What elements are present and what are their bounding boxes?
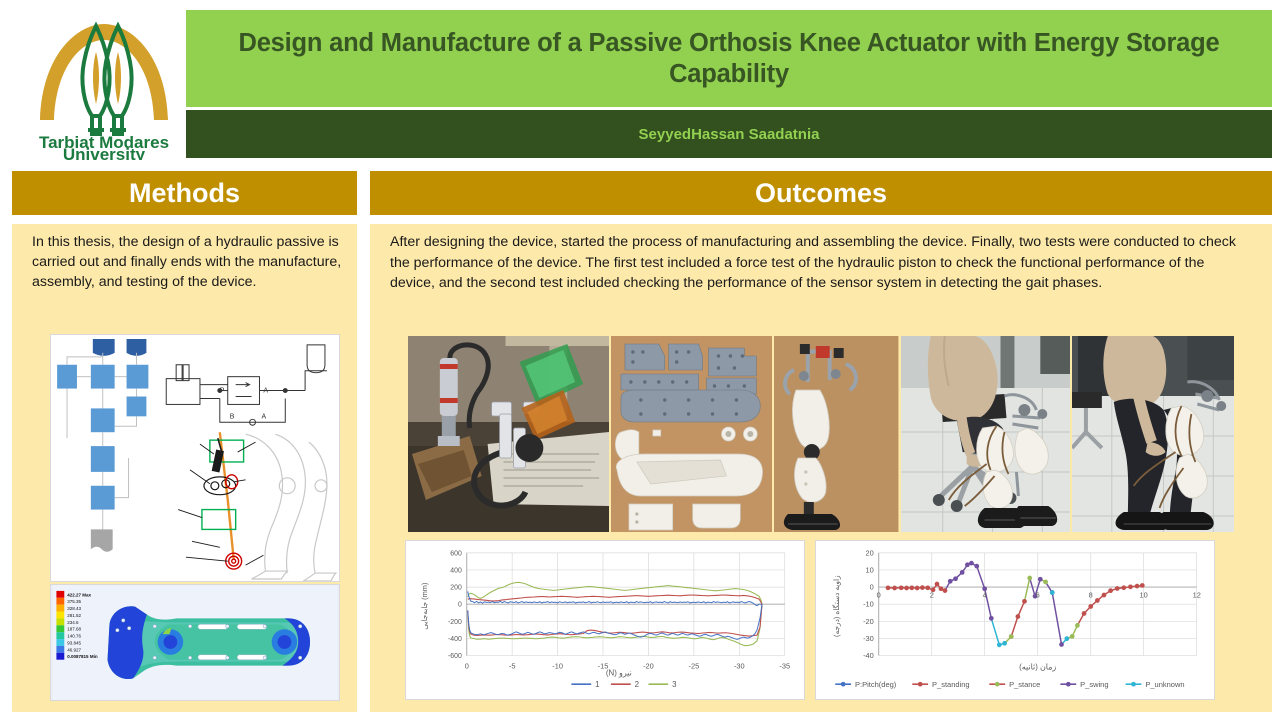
svg-text:A: A <box>263 388 268 395</box>
photo-assembled-orthosis-on-bench <box>774 336 898 532</box>
methods-panel: In this thesis, the design of a hydrauli… <box>12 224 357 712</box>
svg-text:10: 10 <box>1140 590 1148 599</box>
logo-graphic: Tarbiat Modares University <box>22 8 187 160</box>
gait-phase-pitch-chart: 20 10 0 -10 -20 -30 -40 0 2 4 6 8 10 12 <box>815 540 1215 700</box>
svg-text:6: 6 <box>1036 590 1040 599</box>
fea-legend-1: 375.35 <box>67 599 81 604</box>
svg-text:0: 0 <box>465 661 469 670</box>
fea-legend-5: 187.68 <box>67 627 81 632</box>
svg-text:P: P <box>220 388 225 395</box>
outcomes-section-header: Outcomes <box>370 171 1272 215</box>
fea-legend-2: 328.43 <box>67 606 81 611</box>
svg-text:10: 10 <box>866 565 874 574</box>
svg-text:A: A <box>261 413 266 420</box>
force-displacement-chart: 600 400 200 0 -200 -400 -600 0 -5 -10 -1… <box>405 540 805 700</box>
svg-text:-30: -30 <box>863 634 874 643</box>
author-name: SeyyedHassan Saadatnia <box>639 126 820 143</box>
svg-text:0: 0 <box>870 583 874 592</box>
chart-right-legend-3: P_swing <box>1080 680 1108 689</box>
methods-diagram-graphic: P A B A <box>51 335 339 581</box>
svg-text:0: 0 <box>877 590 881 599</box>
outcomes-heading-label: Outcomes <box>755 178 887 209</box>
chart-left-legend-3: 3 <box>672 680 677 689</box>
photo-subject-standing-wearing-orthosis <box>1072 336 1234 532</box>
methods-diagram-figure: P A B A <box>50 334 340 582</box>
svg-text:600: 600 <box>450 550 462 557</box>
poster-title-bar: Design and Manufacture of a Passive Orth… <box>186 10 1272 107</box>
methods-section-header: Methods <box>12 171 357 215</box>
svg-text:-35: -35 <box>779 661 790 670</box>
fea-legend-4: 234.6 <box>67 620 79 625</box>
poster-author-bar: SeyyedHassan Saadatnia <box>186 110 1272 158</box>
chart-left-ylabel: جابه‌جایی (mm) <box>420 583 429 630</box>
svg-text:12: 12 <box>1193 590 1201 599</box>
page-title: Design and Manufacture of a Passive Orth… <box>224 28 1234 88</box>
svg-text:-30: -30 <box>734 661 745 670</box>
fea-legend-3: 281.52 <box>67 613 81 618</box>
svg-text:-5: -5 <box>509 661 516 670</box>
outcomes-photo-strip <box>408 336 1234 532</box>
svg-text:-20: -20 <box>863 617 874 626</box>
chart-right-legend-4: P_unknown <box>1145 680 1184 689</box>
svg-text:-10: -10 <box>552 661 563 670</box>
fea-legend-0: 422.27 Max <box>67 592 91 597</box>
svg-text:-400: -400 <box>448 636 462 643</box>
methods-fea-figure: 422.27 Max 375.35 328.43 281.52 234.6 18… <box>50 584 340 701</box>
svg-text:-10: -10 <box>863 600 874 609</box>
logo-text-line2: University <box>63 145 146 160</box>
svg-text:400: 400 <box>450 567 462 574</box>
svg-text:-40: -40 <box>863 651 874 660</box>
outcomes-panel: After designing the device, started the … <box>370 224 1272 712</box>
svg-text:B: B <box>230 413 235 420</box>
chart-right-legend-1: P_standing <box>932 680 970 689</box>
fea-contour-graphic: 422.27 Max 375.35 328.43 281.52 234.6 18… <box>51 585 339 700</box>
chart-right-legend-0: P:Pitch(deg) <box>855 680 897 689</box>
svg-text:200: 200 <box>450 585 462 592</box>
svg-text:-25: -25 <box>689 661 700 670</box>
photo-subject-sitting-wearing-orthosis <box>901 336 1070 532</box>
svg-text:-200: -200 <box>448 619 462 626</box>
poster-header: Tarbiat Modares University Design and Ma… <box>0 0 1280 163</box>
methods-heading-label: Methods <box>129 178 240 209</box>
poster-root: Tarbiat Modares University Design and Ma… <box>0 0 1280 720</box>
fea-legend-6: 140.76 <box>67 634 81 639</box>
chart-right-xlabel: زمان (ثانیه) <box>1019 662 1056 671</box>
photo-machined-metal-plates-and-printed-parts <box>611 336 772 532</box>
chart-left-xlabel: نیرو (N) <box>606 668 632 677</box>
svg-text:20: 20 <box>866 548 874 557</box>
chart-right-legend-2: P_stance <box>1009 680 1040 689</box>
chart-left-legend-2: 2 <box>635 680 639 689</box>
fea-legend-8: 46.927 <box>67 647 81 652</box>
outcomes-body-text: After designing the device, started the … <box>390 232 1252 294</box>
university-logo: Tarbiat Modares University <box>22 8 187 160</box>
svg-text:-600: -600 <box>448 653 462 660</box>
gait-phase-svg: 20 10 0 -10 -20 -30 -40 0 2 4 6 8 10 12 <box>816 541 1214 699</box>
svg-text:4: 4 <box>983 590 987 599</box>
svg-text:-20: -20 <box>643 661 654 670</box>
fea-legend-7: 93.845 <box>67 640 81 645</box>
methods-body-text: In this thesis, the design of a hydrauli… <box>32 232 342 292</box>
force-displacement-svg: 600 400 200 0 -200 -400 -600 0 -5 -10 -1… <box>406 541 804 699</box>
chart-right-ylabel: زاویه دستگاه (درجه) <box>832 575 841 637</box>
chart-left-legend-1: 1 <box>595 680 599 689</box>
fea-legend-9: 0.0087815 Min <box>67 654 98 659</box>
svg-text:2: 2 <box>930 590 934 599</box>
photo-hydraulic-piston-test-rig <box>408 336 609 532</box>
svg-text:0: 0 <box>458 602 462 609</box>
svg-text:8: 8 <box>1089 590 1093 599</box>
